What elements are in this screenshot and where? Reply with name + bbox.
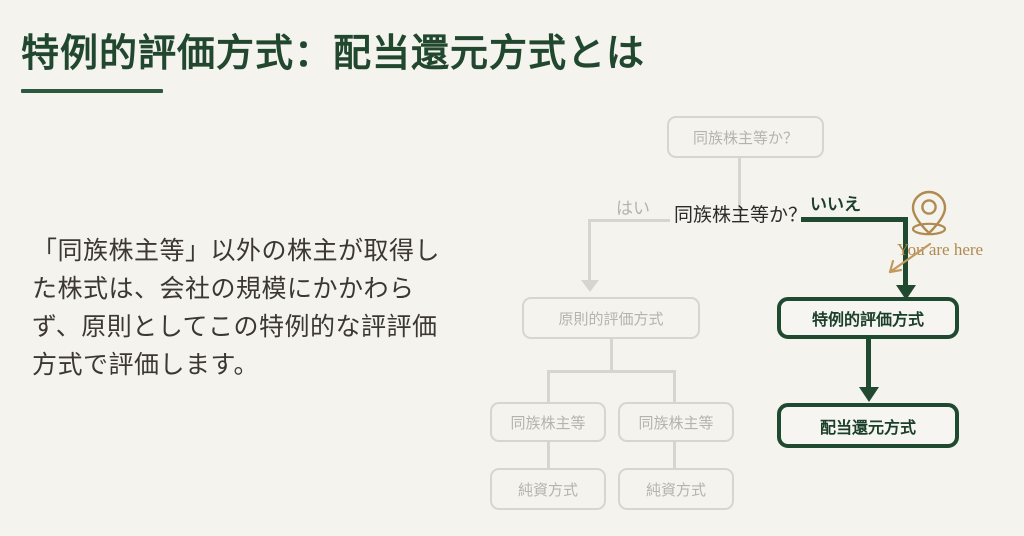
arrowhead-yes: [581, 280, 599, 292]
flow-node-dozoku-left[interactable]: 同族株主等: [490, 402, 606, 442]
connector-gensoku-split: [547, 370, 676, 373]
flow-node-junshi-right-label: 純資方式: [646, 479, 706, 500]
map-pin-icon: [905, 188, 953, 240]
slide-canvas: 特例的評価方式：配当還元方式とは 「同族株主等」以外の株主が取得した株式は、会社…: [0, 0, 1024, 536]
flow-node-haito-label: 配当還元方式: [820, 414, 916, 438]
flow-node-tokurei[interactable]: 特例的評価方式: [777, 297, 959, 339]
connector-yes-horizontal: [588, 219, 670, 222]
flow-node-junshi-right[interactable]: 純資方式: [618, 468, 734, 510]
flow-node-junshi-left-label: 純資方式: [518, 479, 578, 500]
flow-node-gensoku[interactable]: 原則的評価方式: [522, 297, 700, 339]
flow-node-dozoku-right-label: 同族株主等: [638, 412, 713, 433]
connector-yes-vertical: [588, 219, 591, 284]
connector-no-horizontal: [801, 217, 908, 222]
arrowhead-tokurei: [859, 387, 879, 402]
flow-node-dozoku-right[interactable]: 同族株主等: [618, 402, 734, 442]
page-title: 特例的評価方式：配当還元方式とは: [21, 22, 645, 77]
flow-node-root-label: 同族株主等か？: [693, 127, 798, 148]
flow-edge-label-no: いいえ: [810, 190, 861, 215]
flow-node-gensoku-label: 原則的評価方式: [558, 308, 663, 329]
body-paragraph: 「同族株主等」以外の株主が取得した株式は、会社の規模にかかわらず、原則としてこの…: [32, 232, 462, 384]
flow-edge-label-yes: はい: [616, 194, 650, 219]
flow-node-junshi-left[interactable]: 純資方式: [490, 468, 606, 510]
connector-dozoku-left-drop: [547, 442, 550, 469]
connector-gensoku-stem: [610, 339, 613, 372]
flow-node-root[interactable]: 同族株主等か？: [667, 116, 824, 158]
title-underline-rule: [21, 89, 163, 93]
flow-decision-question: 同族株主等か？: [674, 200, 807, 227]
connector-dozoku-right-drop: [673, 442, 676, 469]
evaluation-method-flowchart: 同族株主等か？ 同族株主等か？ はい いいえ 原則的評価方式 同族株主等 同族株…: [470, 100, 1024, 536]
connector-gensoku-left-drop: [547, 370, 550, 403]
flow-node-haito[interactable]: 配当還元方式: [777, 403, 959, 448]
connector-gensoku-right-drop: [673, 370, 676, 403]
flow-node-dozoku-left-label: 同族株主等: [510, 412, 585, 433]
connector-tokurei-stem: [866, 339, 871, 391]
you-are-here-arrow-icon: [878, 240, 934, 280]
flow-node-tokurei-label: 特例的評価方式: [812, 306, 924, 330]
you-are-here-marker: You are here: [905, 188, 953, 240]
